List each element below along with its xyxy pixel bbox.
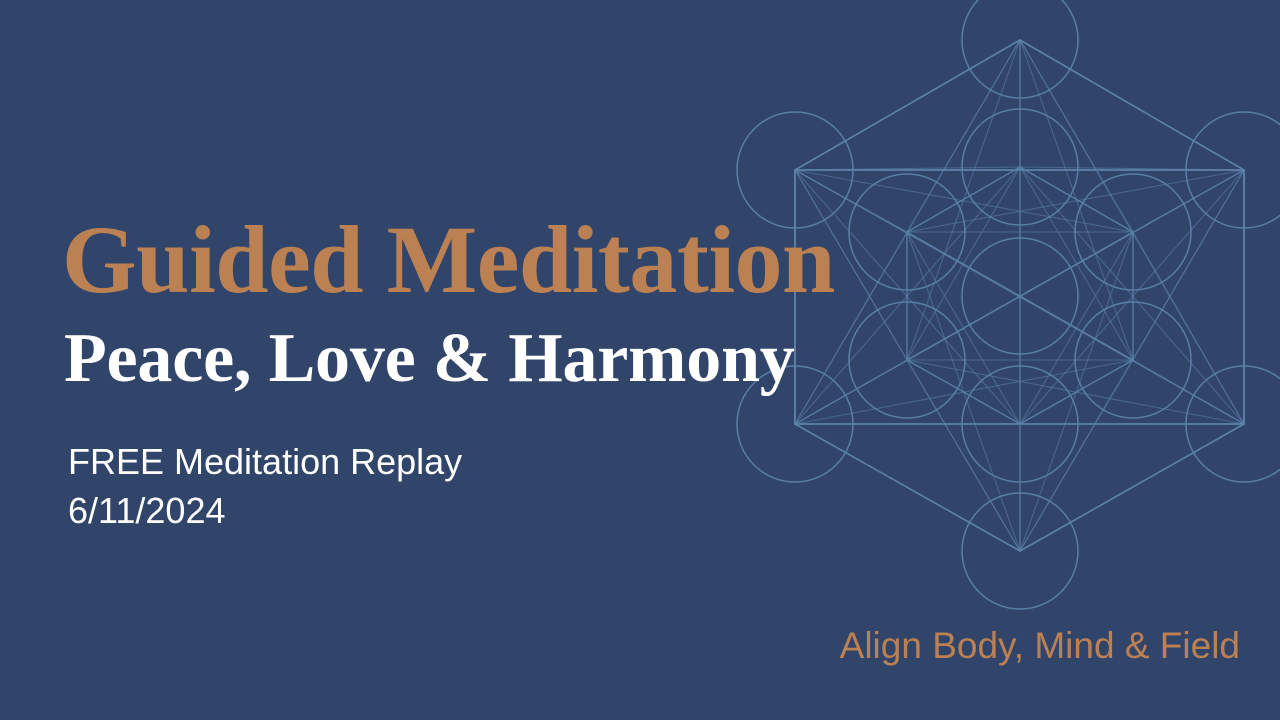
slide-tagline: Align Body, Mind & Field — [840, 626, 1240, 667]
presentation-slide: Guided Meditation Peace, Love & Harmony … — [0, 0, 1280, 720]
page-title: Guided Meditation — [62, 212, 835, 308]
event-detail-offer: FREE Meditation Replay — [68, 438, 462, 487]
event-details: FREE Meditation Replay 6/11/2024 — [68, 438, 462, 535]
event-detail-date: 6/11/2024 — [68, 487, 462, 536]
page-subtitle: Peace, Love & Harmony — [64, 324, 795, 394]
slide-text-layer: Guided Meditation Peace, Love & Harmony … — [0, 0, 1280, 720]
